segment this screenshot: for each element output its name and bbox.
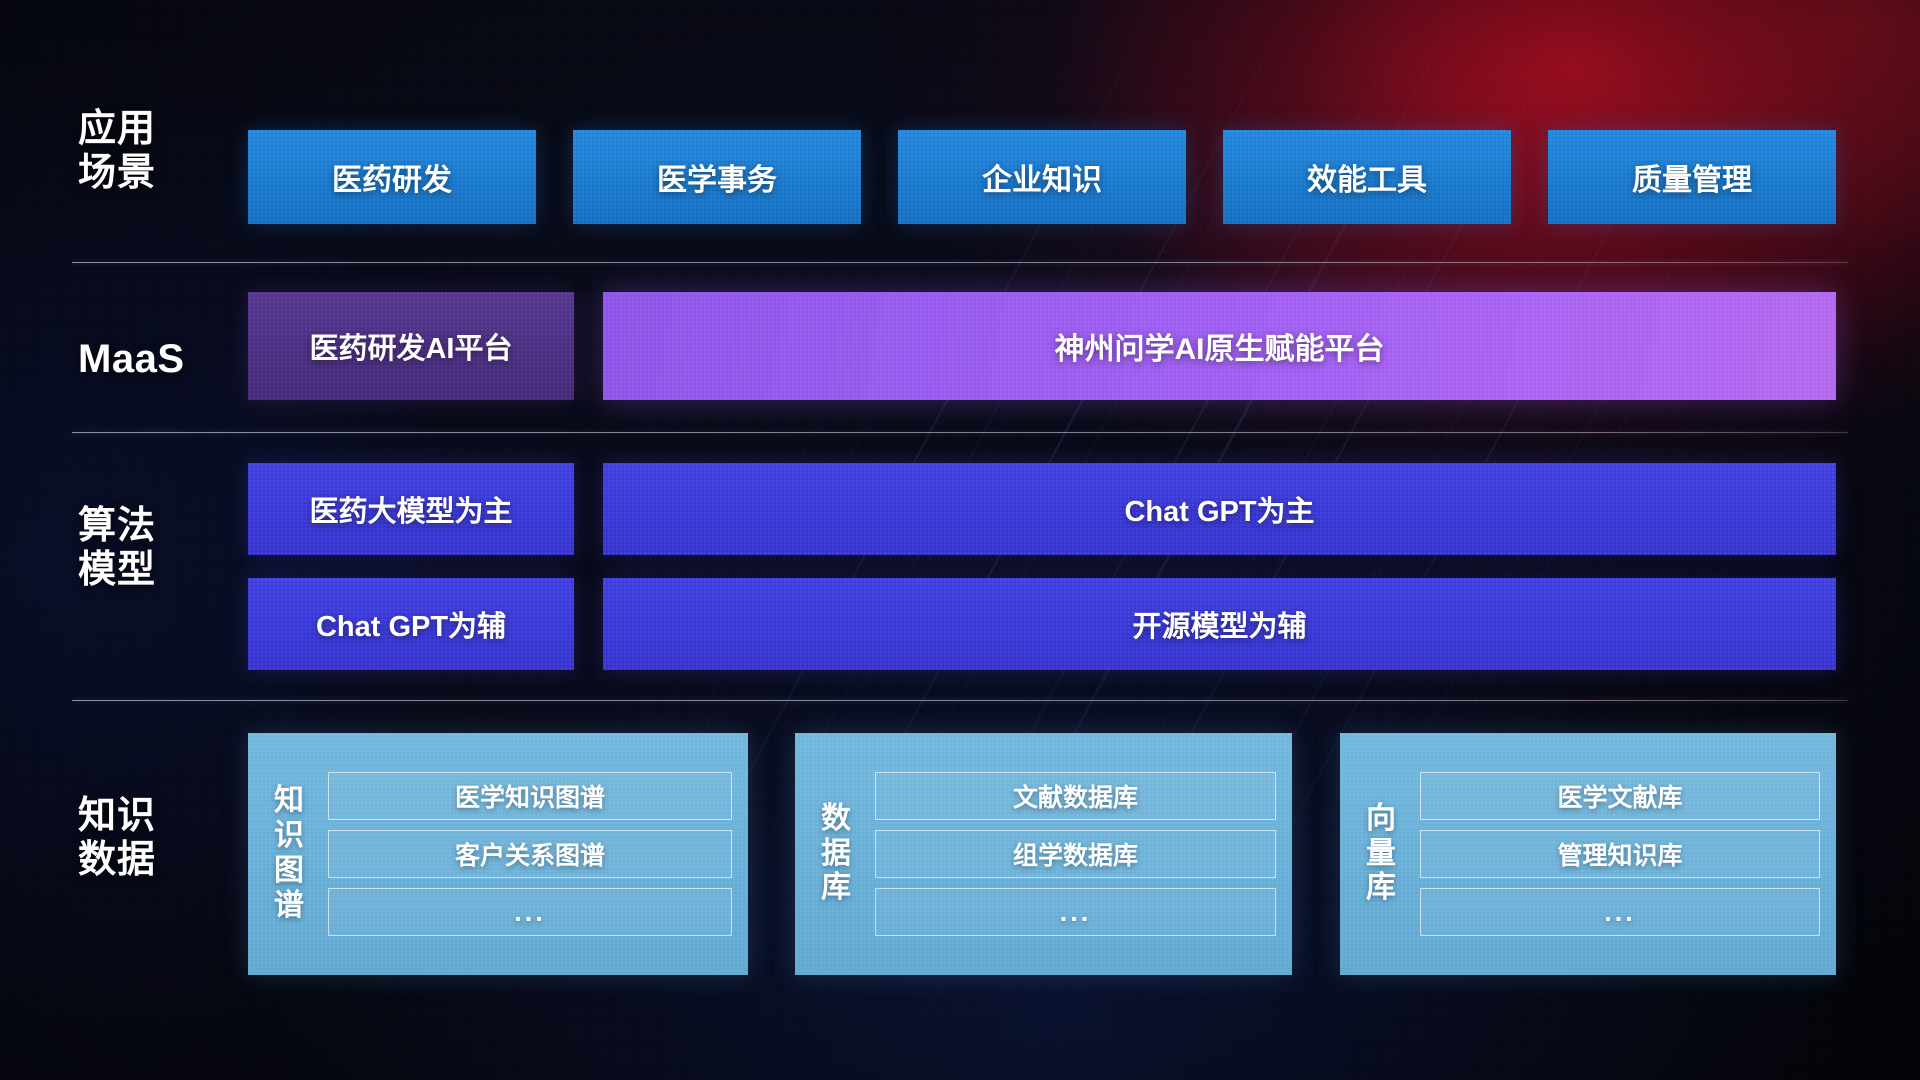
algorithm-box-secondary-opensource[interactable]: 开源模型为辅 (603, 578, 1836, 670)
tier-label-line-1: 知识 (78, 795, 156, 837)
algorithm-box-primary-pharma-model[interactable]: 医药大模型为主 (248, 463, 574, 555)
app-scenario-box-5[interactable]: 质量管理 (1548, 130, 1836, 224)
side-char: 图 (274, 854, 304, 889)
app-scenario-box-1[interactable]: 医药研发 (248, 130, 536, 224)
knowledge-item[interactable]: 医学知识图谱 (328, 772, 732, 820)
tier-label-line-1: 算法 (78, 505, 156, 547)
app-scenario-label-1: 医药研发 (332, 155, 452, 199)
knowledge-item-more[interactable]: ... (875, 888, 1276, 936)
divider-2 (72, 432, 1848, 433)
knowledge-item-more[interactable]: ... (328, 888, 732, 936)
architecture-diagram: 应用 场景 医药研发 医学事务 企业知识 效能工具 质量管理 MaaS (0, 0, 1920, 1080)
knowledge-panel-side-label-database: 数 据 库 (809, 802, 863, 906)
tier-label-line-1: 应用 (78, 108, 156, 150)
algorithm-label-secondary-opensource: 开源模型为辅 (1132, 603, 1306, 645)
algorithm-label-primary-pharma-model: 医药大模型为主 (309, 488, 512, 530)
app-scenario-label-5: 质量管理 (1632, 155, 1752, 199)
app-scenario-box-3[interactable]: 企业知识 (898, 130, 1186, 224)
knowledge-item-list: 医学知识图谱 客户关系图谱 ... (328, 772, 732, 936)
knowledge-panel-side-label-vector-store: 向 量 库 (1354, 802, 1408, 906)
app-scenario-box-2[interactable]: 医学事务 (573, 130, 861, 224)
app-scenario-label-3: 企业知识 (982, 155, 1102, 199)
app-scenario-label-2: 医学事务 (657, 155, 777, 199)
algorithm-box-primary-chatgpt[interactable]: Chat GPT为主 (603, 463, 1836, 555)
maas-box-pharma-ai-platform[interactable]: 医药研发AI平台 (248, 292, 574, 400)
algorithm-label-primary-chatgpt: Chat GPT为主 (1124, 488, 1314, 530)
side-char: 据 (821, 837, 851, 872)
side-char: 库 (821, 871, 851, 906)
maas-label-shenzhou-platform: 神州问学AI原生赋能平台 (1055, 324, 1385, 368)
algorithm-box-secondary-chatgpt[interactable]: Chat GPT为辅 (248, 578, 574, 670)
divider-1 (72, 262, 1848, 263)
side-char: 谱 (274, 889, 304, 924)
knowledge-item-more[interactable]: ... (1420, 888, 1820, 936)
tier-label-line-2: 模型 (78, 549, 156, 591)
maas-box-shenzhou-platform[interactable]: 神州问学AI原生赋能平台 (603, 292, 1836, 400)
divider-3 (72, 700, 1848, 701)
side-char: 知 (274, 784, 304, 819)
tier-label-algorithm-models: 算法 模型 (78, 505, 210, 592)
knowledge-item[interactable]: 医学文献库 (1420, 772, 1820, 820)
knowledge-item[interactable]: 管理知识库 (1420, 830, 1820, 878)
side-char: 数 (821, 802, 851, 837)
app-scenario-label-4: 效能工具 (1307, 155, 1427, 199)
tier-label-maas: MaaS (78, 336, 210, 382)
knowledge-item[interactable]: 客户关系图谱 (328, 830, 732, 878)
knowledge-item[interactable]: 文献数据库 (875, 772, 1276, 820)
knowledge-item-list: 医学文献库 管理知识库 ... (1420, 772, 1820, 936)
knowledge-panel-knowledge-graph[interactable]: 知 识 图 谱 医学知识图谱 客户关系图谱 ... (248, 733, 748, 975)
tier-label-line-2: 场景 (78, 152, 156, 194)
knowledge-panel-vector-store[interactable]: 向 量 库 医学文献库 管理知识库 ... (1340, 733, 1836, 975)
tier-label-knowledge-data: 知识 数据 (78, 795, 210, 882)
maas-label-pharma-ai-platform: 医药研发AI平台 (309, 325, 512, 367)
algorithm-label-secondary-chatgpt: Chat GPT为辅 (316, 603, 506, 645)
tier-label-application-scenarios: 应用 场景 (78, 108, 210, 195)
knowledge-item-list: 文献数据库 组学数据库 ... (875, 772, 1276, 936)
tier-label-line-2: 数据 (78, 839, 156, 881)
side-char: 向 (1366, 802, 1396, 837)
knowledge-panel-side-label-knowledge-graph: 知 识 图 谱 (262, 784, 316, 923)
side-char: 库 (1366, 871, 1396, 906)
side-char: 量 (1366, 837, 1396, 872)
app-scenario-box-4[interactable]: 效能工具 (1223, 130, 1511, 224)
knowledge-panel-database[interactable]: 数 据 库 文献数据库 组学数据库 ... (795, 733, 1292, 975)
side-char: 识 (274, 819, 304, 854)
knowledge-item[interactable]: 组学数据库 (875, 830, 1276, 878)
